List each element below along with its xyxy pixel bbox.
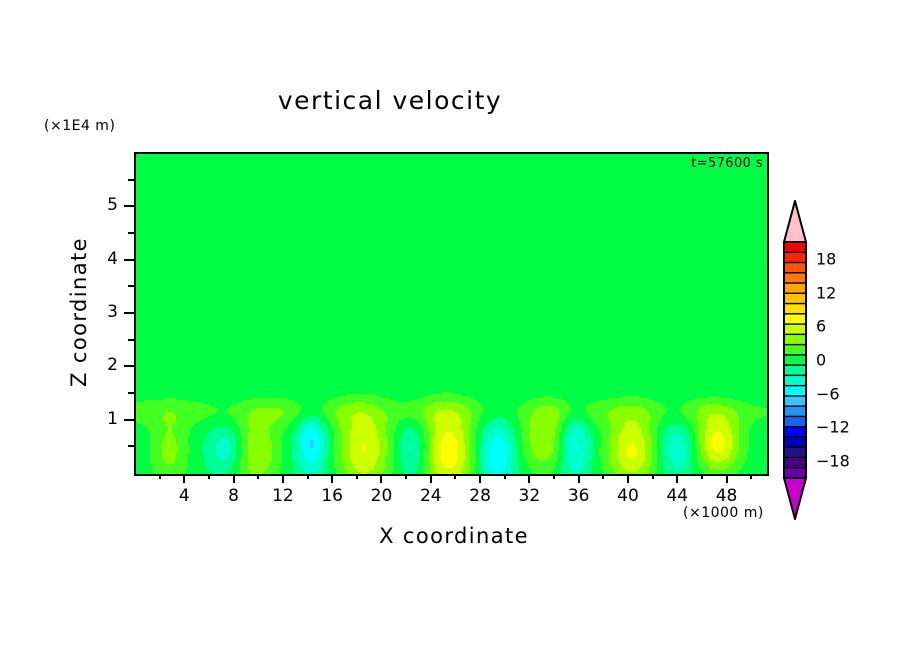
x-axis-major-tick bbox=[676, 474, 678, 483]
x-axis-minor-tick bbox=[553, 474, 555, 479]
y-axis-minor-tick bbox=[128, 339, 134, 341]
y-axis-major-tick bbox=[124, 419, 134, 421]
y-axis-minor-tick bbox=[128, 179, 134, 181]
x-axis-tick-label: 44 bbox=[666, 486, 688, 506]
x-axis-major-tick bbox=[528, 474, 530, 483]
x-axis-major-tick bbox=[183, 474, 185, 483]
x-axis-major-tick bbox=[282, 474, 284, 483]
x-axis-minor-tick bbox=[257, 474, 259, 479]
x-axis-minor-tick bbox=[652, 474, 654, 479]
x-axis-tick-label: 12 bbox=[272, 486, 294, 506]
contour-plot-area: t=57600 s bbox=[134, 152, 769, 476]
x-axis-major-tick bbox=[380, 474, 382, 483]
x-axis-minor-tick bbox=[750, 474, 752, 479]
x-axis-tick-label: 40 bbox=[617, 486, 639, 506]
y-axis-major-tick bbox=[124, 365, 134, 367]
x-axis-tick-label: 4 bbox=[179, 486, 190, 506]
x-axis-tick-label: 8 bbox=[228, 486, 239, 506]
x-axis-minor-tick bbox=[356, 474, 358, 479]
x-axis-minor-tick bbox=[208, 474, 210, 479]
colorbar-tick-label: 0 bbox=[816, 351, 826, 370]
x-axis-minor-tick bbox=[307, 474, 309, 479]
y-axis-tick-label: 4 bbox=[88, 249, 118, 269]
x-axis-minor-tick bbox=[159, 474, 161, 479]
y-axis-unit-label: (×1E4 m) bbox=[44, 118, 115, 134]
x-axis-tick-label: 24 bbox=[420, 486, 442, 506]
x-axis-major-tick bbox=[430, 474, 432, 483]
x-axis-major-tick bbox=[627, 474, 629, 483]
vertical-velocity-field bbox=[136, 154, 767, 474]
timestamp-annotation: t=57600 s bbox=[691, 156, 763, 171]
x-axis-title: X coordinate bbox=[274, 524, 634, 548]
y-axis-tick-label: 5 bbox=[88, 195, 118, 215]
y-axis-tick-label: 1 bbox=[88, 409, 118, 429]
y-axis-minor-tick bbox=[128, 285, 134, 287]
x-axis-unit-label: (×1000 m) bbox=[683, 505, 764, 521]
x-axis-minor-tick bbox=[454, 474, 456, 479]
x-axis-tick-label: 48 bbox=[716, 486, 738, 506]
colorbar-tick-label: 6 bbox=[816, 317, 826, 336]
colorbar-tick-label: −12 bbox=[816, 418, 850, 437]
x-axis-tick-label: 32 bbox=[519, 486, 541, 506]
y-axis-major-tick bbox=[124, 312, 134, 314]
colorbar-tick-label: 18 bbox=[816, 249, 836, 268]
x-axis-major-tick bbox=[479, 474, 481, 483]
y-axis-major-tick bbox=[124, 205, 134, 207]
figure-root: vertical velocity (×1E4 m) (×1000 m) X c… bbox=[0, 0, 904, 654]
y-axis-tick-label: 3 bbox=[88, 302, 118, 322]
page-title: vertical velocity bbox=[0, 86, 780, 115]
x-axis-minor-tick bbox=[602, 474, 604, 479]
x-axis-tick-label: 36 bbox=[568, 486, 590, 506]
y-axis-minor-tick bbox=[128, 445, 134, 447]
x-axis-minor-tick bbox=[504, 474, 506, 479]
x-axis-major-tick bbox=[726, 474, 728, 483]
y-axis-minor-tick bbox=[128, 232, 134, 234]
colorbar-tick-label: 12 bbox=[816, 283, 836, 302]
x-axis-tick-label: 28 bbox=[469, 486, 491, 506]
x-axis-major-tick bbox=[233, 474, 235, 483]
x-axis-minor-tick bbox=[405, 474, 407, 479]
colorbar bbox=[781, 200, 809, 520]
y-axis-minor-tick bbox=[128, 392, 134, 394]
x-axis-tick-label: 16 bbox=[321, 486, 343, 506]
x-axis-major-tick bbox=[578, 474, 580, 483]
x-axis-minor-tick bbox=[701, 474, 703, 479]
colorbar-tick-label: −6 bbox=[816, 384, 840, 403]
colorbar-tick-label: −18 bbox=[816, 452, 850, 471]
x-axis-tick-label: 20 bbox=[371, 486, 393, 506]
colorbar-swatches bbox=[781, 200, 809, 520]
y-axis-tick-label: 2 bbox=[88, 355, 118, 375]
y-axis-major-tick bbox=[124, 259, 134, 261]
x-axis-major-tick bbox=[331, 474, 333, 483]
